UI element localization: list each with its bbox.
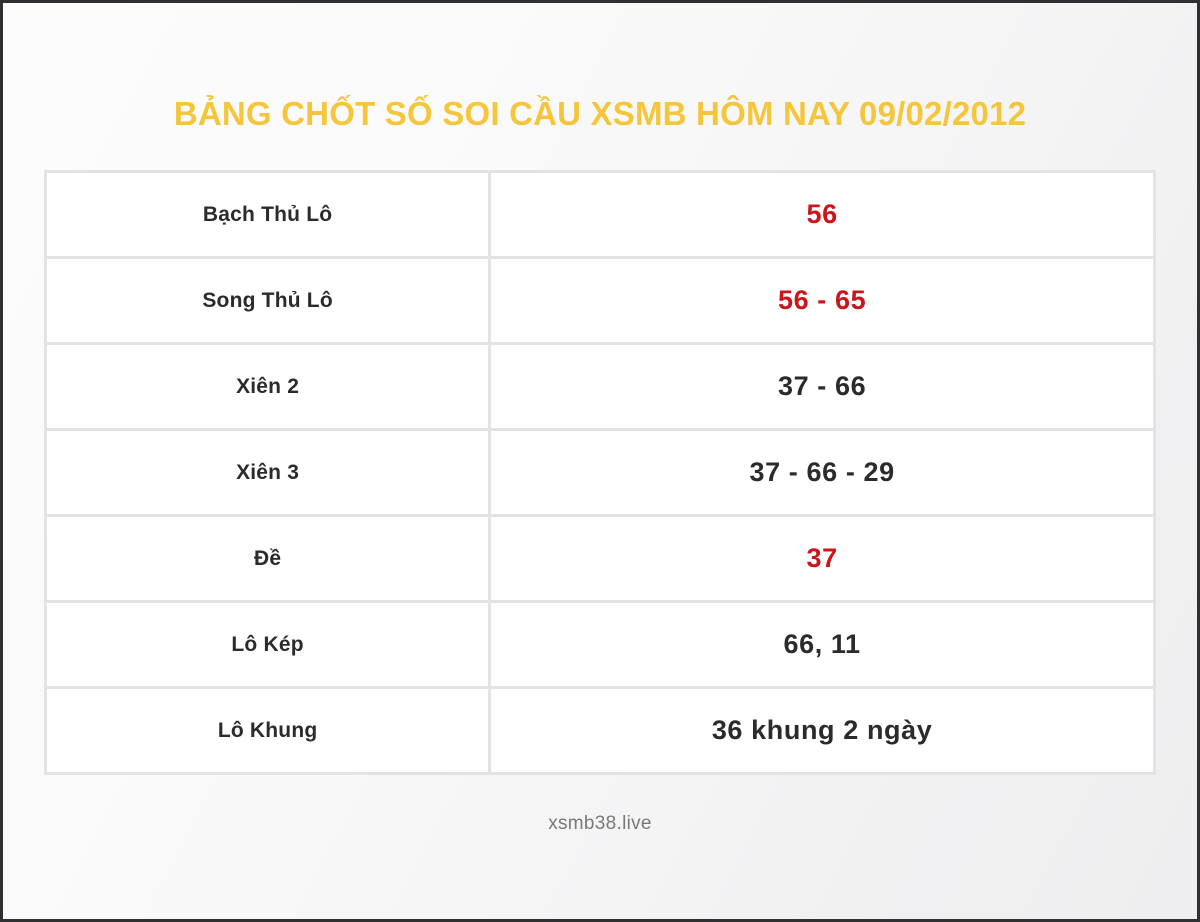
page-container: BẢNG CHỐT SỐ SOI CẦU XSMB HÔM NAY 09/02/… [3, 3, 1197, 919]
table-row: Xiên 2 37 - 66 [47, 345, 1153, 428]
row-label: Song Thủ Lô [47, 259, 488, 342]
row-value: 66, 11 [491, 603, 1153, 686]
table-row: Lô Khung 36 khung 2 ngày [47, 689, 1153, 772]
table-row: Lô Kép 66, 11 [47, 603, 1153, 686]
row-label: Bạch Thủ Lô [47, 173, 488, 256]
table-row: Xiên 3 37 - 66 - 29 [47, 431, 1153, 514]
row-value: 56 - 65 [491, 259, 1153, 342]
row-value: 37 - 66 - 29 [491, 431, 1153, 514]
row-label: Lô Kép [47, 603, 488, 686]
row-label: Đề [47, 517, 488, 600]
row-label: Xiên 2 [47, 345, 488, 428]
site-watermark: xsmb38.live [548, 813, 652, 835]
row-value: 37 [491, 517, 1153, 600]
row-value: 56 [491, 173, 1153, 256]
table-row: Song Thủ Lô 56 - 65 [47, 259, 1153, 342]
prediction-table: Bạch Thủ Lô 56 Song Thủ Lô 56 - 65 Xiên … [44, 170, 1156, 775]
page-title: BẢNG CHỐT SỐ SOI CẦU XSMB HÔM NAY 09/02/… [174, 96, 1026, 132]
row-value: 36 khung 2 ngày [491, 689, 1153, 772]
table-row: Đề 37 [47, 517, 1153, 600]
row-label: Lô Khung [47, 689, 488, 772]
row-value: 37 - 66 [491, 345, 1153, 428]
table-row: Bạch Thủ Lô 56 [47, 173, 1153, 256]
row-label: Xiên 3 [47, 431, 488, 514]
